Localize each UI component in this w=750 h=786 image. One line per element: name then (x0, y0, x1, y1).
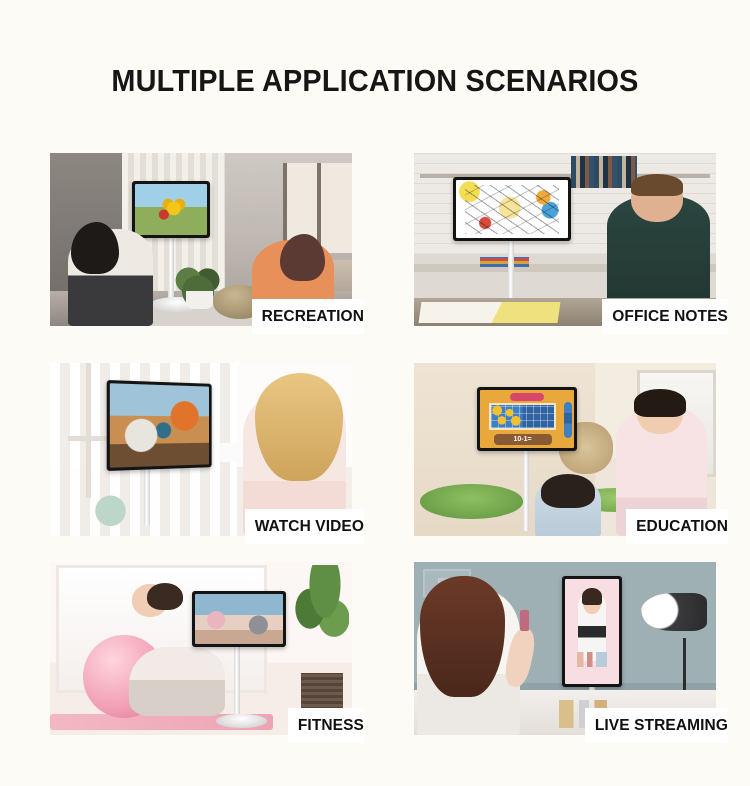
stand-pole (234, 645, 240, 721)
screen-content-stream (565, 579, 619, 684)
screen-content-whiteboard (456, 180, 568, 238)
stream-host-hair (582, 588, 602, 605)
stand-pole (523, 448, 529, 531)
game-title-bar (510, 393, 544, 401)
scenario-label-office-notes: OFFICE NOTES (602, 299, 728, 335)
scenario-label-fitness: FITNESS (288, 708, 364, 744)
game-equation-text: 10-1= (494, 434, 552, 444)
cup (219, 443, 243, 462)
window-frame-vertical (86, 363, 91, 498)
book-stack (480, 257, 528, 267)
play-pad-left (420, 484, 523, 519)
display-screen (132, 181, 211, 238)
scenario-label-watch-video: WATCH VIDEO (245, 509, 364, 545)
screen-content-movie (110, 383, 209, 467)
scenario-card-office-notes[interactable]: OFFICE NOTES (414, 153, 716, 326)
stand-pole (144, 463, 150, 525)
scenario-card-education[interactable]: 10-1= EDUCATION (414, 363, 716, 536)
person-woman-hair (420, 576, 505, 697)
papers (419, 302, 561, 323)
display-screen (107, 380, 212, 470)
display-screen (453, 177, 571, 241)
person-woman-hair (255, 373, 343, 480)
person-child-hair (541, 474, 595, 509)
plant-pot (186, 291, 213, 308)
scenario-label-live-streaming: LIVE STREAMING (585, 708, 728, 744)
person-teacher-hair (634, 389, 685, 417)
scenario-card-watch-video[interactable]: WATCH VIDEO (50, 363, 352, 536)
scenario-label-recreation: RECREATION (252, 299, 364, 335)
person-woman (129, 647, 226, 716)
person-left-hair (71, 222, 119, 274)
stream-products (577, 652, 607, 667)
screen-content-math-game: 10-1= (480, 390, 574, 448)
scenario-card-fitness[interactable]: FITNESS (50, 562, 352, 735)
display-screen (192, 591, 286, 646)
person-right-hair (280, 234, 325, 281)
plant (289, 565, 349, 662)
display-screen (562, 576, 622, 687)
game-answer-keys (564, 402, 572, 438)
screen-content-cartoon (135, 184, 208, 235)
ring-light-icon (641, 593, 707, 631)
scenario-card-recreation[interactable]: RECREATION (50, 153, 352, 326)
page-title: MULTIPLE APPLICATION SCENARIOS (26, 63, 724, 99)
books (571, 156, 637, 187)
person-man-hair (631, 174, 682, 196)
game-equation-bar: 10-1= (494, 434, 552, 444)
person-woman-ponytail (147, 583, 183, 611)
lipstick (520, 610, 529, 631)
scenario-grid: RECREATION OFFICE NOTES (50, 153, 716, 735)
game-counters (491, 405, 522, 427)
scenario-label-education: EDUCATION (626, 509, 728, 545)
plant (86, 488, 134, 526)
scenario-card-live-streaming[interactable]: LIVE STREAMING (414, 562, 716, 735)
screen-content-workout (195, 594, 283, 643)
display-screen: 10-1= (477, 387, 577, 451)
